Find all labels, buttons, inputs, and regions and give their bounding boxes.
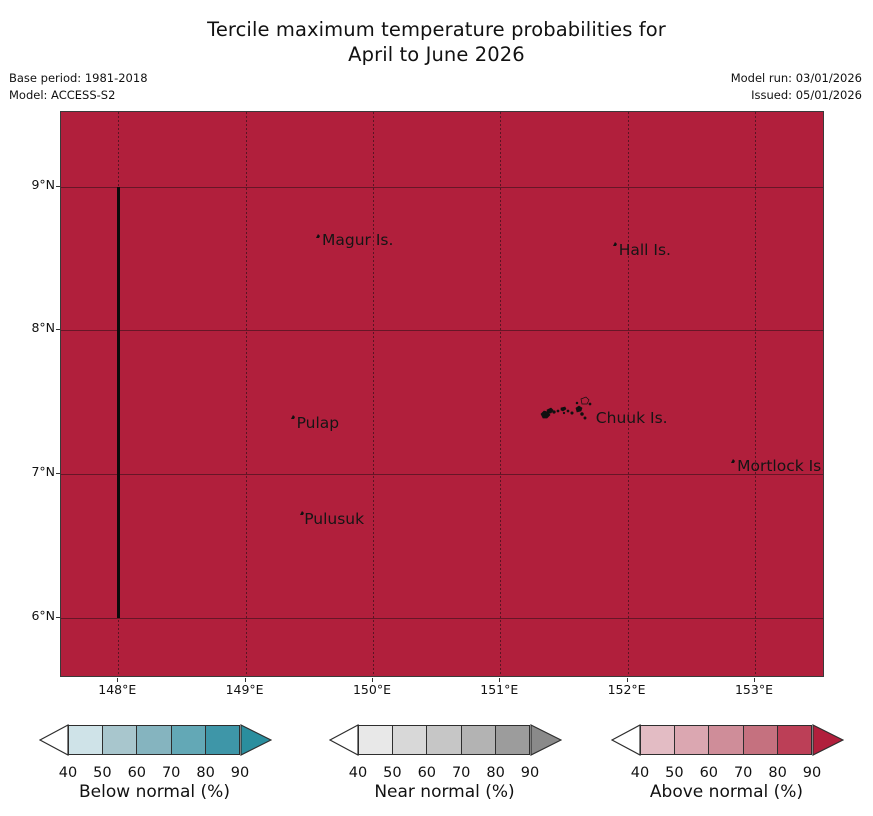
place-label-magur-is: Magur Is.: [322, 233, 393, 249]
map-panel[interactable]: Magur Is.Hall Is.PulapChuuk Is.Mortlock …: [60, 111, 824, 677]
page-title: Tercile maximum temperature probabilitie…: [0, 18, 873, 68]
model-label: Model: ACCESS-S2: [9, 87, 148, 104]
gridline-longitude: [373, 112, 374, 676]
colorbar-segment: [744, 726, 778, 754]
y-axis-tick-label: 7°N: [7, 466, 55, 479]
colorbar-under-arrow: [611, 724, 641, 756]
issued-label: Issued: 05/01/2026: [731, 87, 862, 104]
colorbar-tick-label: 90: [220, 766, 260, 781]
colorbar-segment: [709, 726, 743, 754]
colorbar-caption: Near normal (%): [298, 782, 591, 802]
x-axis-tick-mark: [117, 678, 118, 682]
y-axis-tick-label: 9°N: [7, 179, 55, 192]
x-axis-tick-mark: [499, 678, 500, 682]
x-axis-tick-mark: [754, 678, 755, 682]
x-axis-tick-label: 151°E: [459, 684, 539, 697]
title-line-1: Tercile maximum temperature probabilitie…: [0, 18, 873, 43]
x-axis-tick-label: 150°E: [332, 684, 412, 697]
map-probability-fill: [61, 112, 823, 676]
x-axis-tick-label: 153°E: [714, 684, 794, 697]
gridline-longitude: [500, 112, 501, 676]
title-line-2: April to June 2026: [0, 43, 873, 68]
colorbar-over-arrow: [240, 724, 272, 756]
colorbar-under-arrow: [329, 724, 359, 756]
x-axis-tick-mark: [372, 678, 373, 682]
colorbar-below-normal: 405060708090Below normal (%): [8, 712, 301, 816]
colorbar-segments: [68, 725, 240, 755]
gridline-latitude: [61, 187, 823, 188]
metadata-left: Base period: 1981-2018 Model: ACCESS-S2: [9, 70, 148, 105]
y-axis-tick-label: 6°N: [7, 610, 55, 623]
colorbar-segment: [137, 726, 171, 754]
colorbar-segments: [640, 725, 812, 755]
colorbar-segment: [496, 726, 529, 754]
legend-colorbars: 405060708090Below normal (%)405060708090…: [0, 712, 873, 816]
colorbar-segments: [358, 725, 530, 755]
x-axis-tick-label: 152°E: [587, 684, 667, 697]
colorbar-caption: Above normal (%): [580, 782, 873, 802]
colorbar-segment: [427, 726, 461, 754]
colorbar-segment: [359, 726, 393, 754]
colorbar-segment: [393, 726, 427, 754]
gridline-latitude: [61, 618, 823, 619]
gridline-longitude: [628, 112, 629, 676]
y-axis-tick-mark: [56, 329, 60, 330]
gridline-longitude: [246, 112, 247, 676]
y-axis-tick-mark: [56, 186, 60, 187]
colorbar-segment: [675, 726, 709, 754]
colorbar-segment: [69, 726, 103, 754]
colorbar-segment: [172, 726, 206, 754]
colorbar-segment: [462, 726, 496, 754]
boundary-line: [117, 187, 120, 618]
colorbar-bar: 405060708090: [314, 718, 576, 762]
y-axis-tick-label: 8°N: [7, 322, 55, 335]
place-label-pulusuk: Pulusuk: [304, 512, 364, 528]
metadata-right: Model run: 03/01/2026 Issued: 05/01/2026: [731, 70, 862, 105]
x-axis-tick-mark: [627, 678, 628, 682]
colorbar-bar: 405060708090: [596, 718, 858, 762]
gridline-latitude: [61, 330, 823, 331]
place-label-chuuk-is: Chuuk Is.: [596, 411, 668, 427]
colorbar-caption: Below normal (%): [8, 782, 301, 802]
colorbar-segment: [778, 726, 811, 754]
x-axis-tick-label: 148°E: [77, 684, 157, 697]
base-period-label: Base period: 1981-2018: [9, 70, 148, 87]
gridline-latitude: [61, 474, 823, 475]
colorbar-bar: 405060708090: [24, 718, 286, 762]
colorbar-above-normal: 405060708090Above normal (%): [580, 712, 873, 816]
colorbar-under-arrow: [39, 724, 69, 756]
x-axis-tick-mark: [245, 678, 246, 682]
colorbar-over-arrow: [530, 724, 562, 756]
colorbar-tick-label: 90: [792, 766, 832, 781]
colorbar-near-normal: 405060708090Near normal (%): [298, 712, 591, 816]
colorbar-segment: [641, 726, 675, 754]
colorbar-tick-label: 90: [510, 766, 550, 781]
gridline-longitude: [755, 112, 756, 676]
colorbar-segment: [206, 726, 239, 754]
place-label-hall-is: Hall Is.: [619, 243, 671, 259]
place-label-mortlock-is: Mortlock Is.: [737, 459, 824, 475]
y-axis-tick-mark: [56, 617, 60, 618]
place-label-pulap: Pulap: [297, 416, 340, 432]
colorbar-over-arrow: [812, 724, 844, 756]
y-axis-tick-mark: [56, 473, 60, 474]
x-axis-tick-label: 149°E: [205, 684, 285, 697]
model-run-label: Model run: 03/01/2026: [731, 70, 862, 87]
colorbar-segment: [103, 726, 137, 754]
